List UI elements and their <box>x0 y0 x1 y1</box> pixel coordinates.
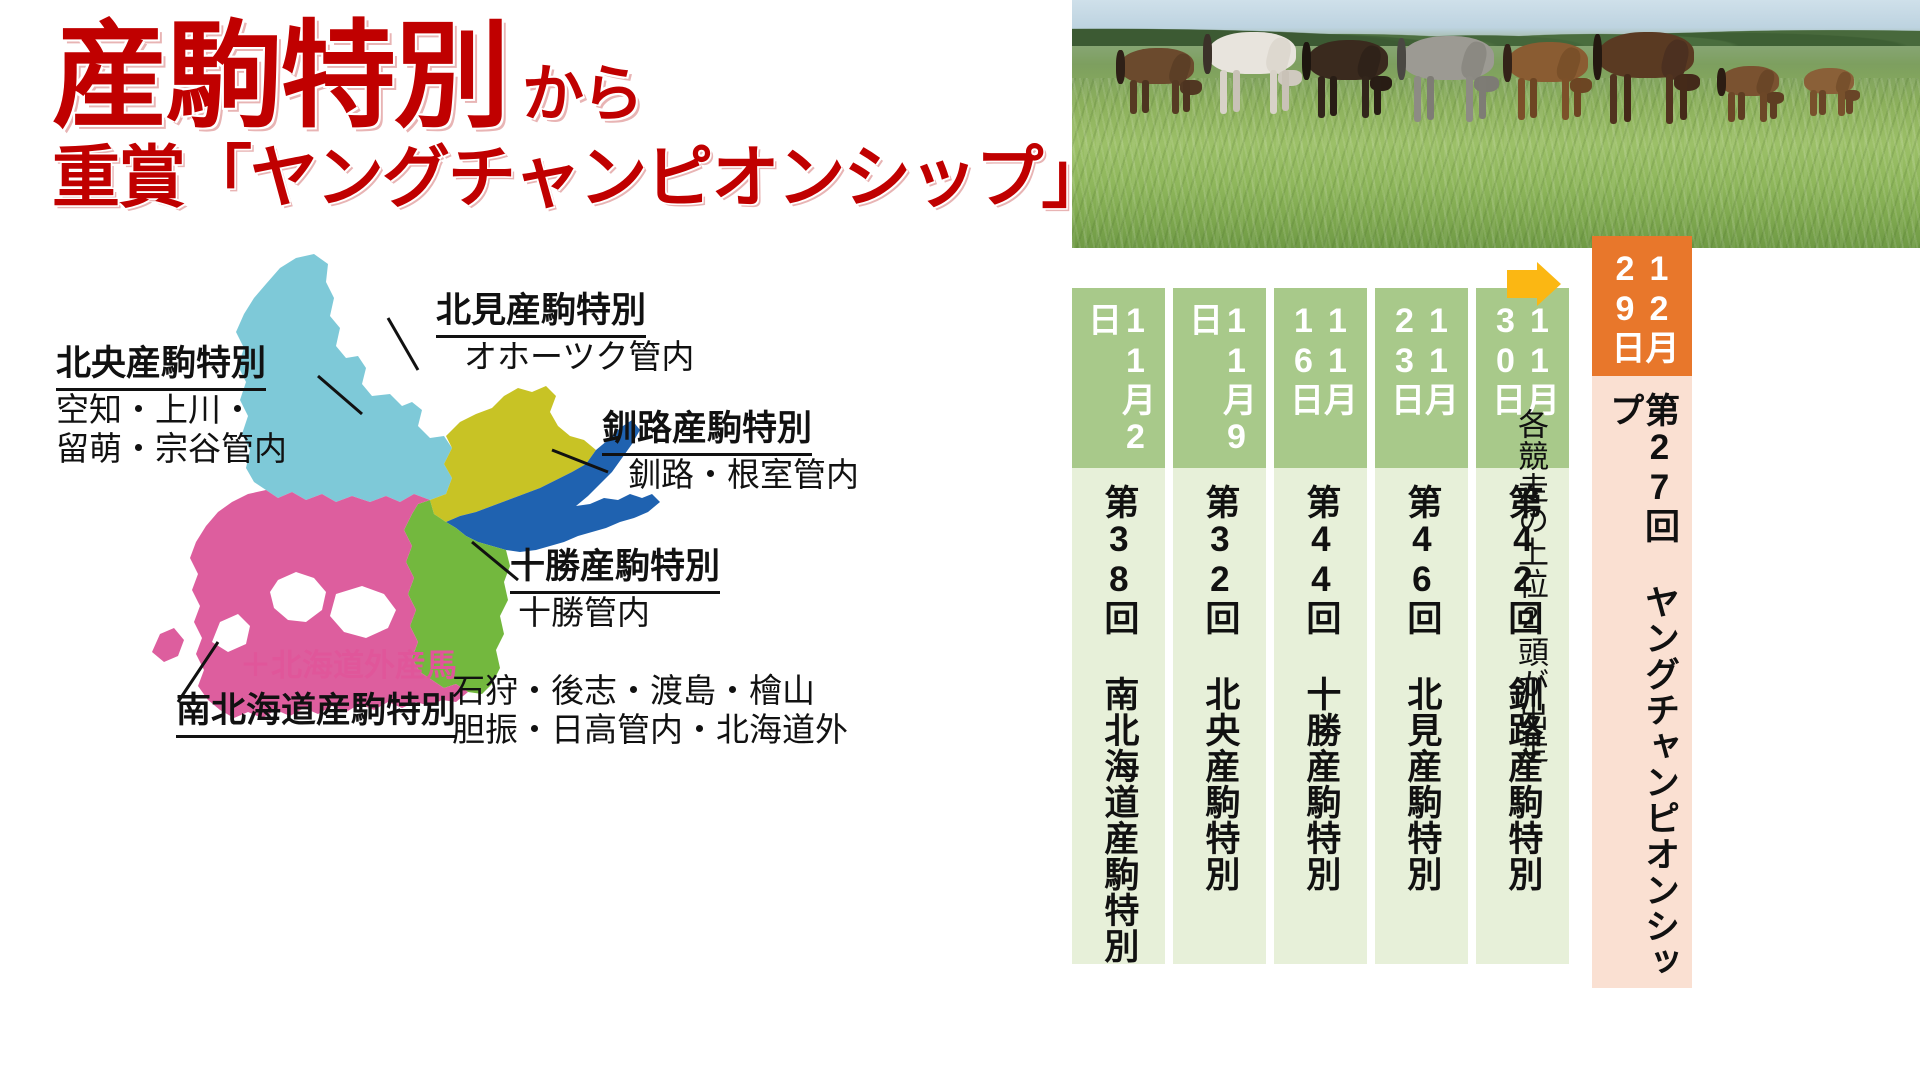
final-race-name-text: 第27回 ヤングチャンピオンシップ <box>1607 392 1677 988</box>
map-label-tokachi-sub-1: 十勝管内 <box>518 594 720 633</box>
race-column[interactable]: 11月23日 第46回 北見産駒特別 <box>1375 288 1468 964</box>
race-date-header: 11月2日 <box>1072 288 1165 468</box>
map-label-kushiro-title: 釧路産駒特別 <box>602 400 812 456</box>
qualification-note-text: 各競走の上位2頭が出走 <box>1515 408 1546 764</box>
horse-silhouette <box>1800 58 1862 126</box>
grazing-horses-pasture-photo <box>1072 0 1920 248</box>
infographic-root: 産駒特別 から 重賞「ヤングチャンピオンシップ」への道 <box>0 0 1920 1080</box>
map-label-kitami-sub-1: オホーツク管内 <box>464 338 694 377</box>
race-name-body: 第32回 北央産駒特別 <box>1173 468 1266 964</box>
map-label-minamihokkaido-title: 南北海道産駒特別 <box>176 682 456 738</box>
horse-silhouette <box>1200 18 1304 122</box>
map-label-kitami-rest: 産駒特別 <box>506 291 646 330</box>
map-label-hokuou: 北央産駒特別 空知・上川・ 留萌・宗谷管内 <box>56 335 287 469</box>
race-name-text: 第32回 北央産駒特別 <box>1202 484 1238 892</box>
final-race-name-body: 第27回 ヤングチャンピオンシップ <box>1592 376 1692 988</box>
right-arrow-icon <box>1503 262 1565 350</box>
map-label-tokachi-rest: 産駒特別 <box>580 547 720 586</box>
race-column[interactable]: 11月9日 第32回 北央産駒特別 <box>1173 288 1266 964</box>
race-name-body: 第44回 十勝産駒特別 <box>1274 468 1367 964</box>
race-column[interactable]: 11月2日 第38回 南北海道産駒特別 <box>1072 288 1165 964</box>
map-label-tokachi: 十勝産駒特別 十勝管内 <box>510 538 720 633</box>
map-label-kushiro-sub-1: 釧路・根室管内 <box>628 456 859 495</box>
map-label-kushiro-rest: 産駒特別 <box>672 409 812 448</box>
race-name-body: 第46回 北見産駒特別 <box>1375 468 1468 964</box>
race-name-text: 第38回 南北海道産駒特別 <box>1101 484 1137 964</box>
map-label-kitami-bold: 北見 <box>436 291 506 330</box>
race-date-header: 11月16日 <box>1274 288 1367 468</box>
qualification-arrow-column: 各競走の上位2頭が出走 <box>1493 288 1589 1048</box>
map-label-minamihokkaido-sub-1: 石狩・後志・渡島・檜山 <box>452 672 848 711</box>
race-date-text: 11月9日 <box>1186 302 1254 468</box>
race-schedule-panel: 11月2日 第38回 南北海道産駒特別 11月9日 第32回 北央産駒特別 11… <box>1072 288 1910 1048</box>
horse-silhouette <box>1716 54 1788 130</box>
final-race-column[interactable]: 12月29日 第27回 ヤングチャンピオンシップ <box>1592 236 1692 988</box>
leader-line-kitami <box>388 318 418 370</box>
horse-silhouette <box>1114 32 1200 116</box>
map-label-hokuou-sub-2: 留萌・宗谷管内 <box>56 430 287 469</box>
race-name-text: 第44回 十勝産駒特別 <box>1303 484 1339 892</box>
horse-silhouette <box>1394 20 1504 128</box>
horse-silhouette <box>1590 14 1706 130</box>
map-label-minamihokkaido-bold: 南北海道 <box>176 691 316 730</box>
horse-silhouette <box>1502 26 1598 126</box>
qualification-note: 各競走の上位2頭が出走 <box>1515 408 1546 769</box>
race-column[interactable]: 11月16日 第44回 十勝産駒特別 <box>1274 288 1367 964</box>
map-note-outside-hokkaido-horses: ＋北海道外産馬 <box>240 640 457 685</box>
title-line-1: 産駒特別 から <box>52 18 1112 134</box>
map-label-hokuou-title: 北央産駒特別 <box>56 335 266 391</box>
race-date-header: 11月9日 <box>1173 288 1266 468</box>
map-label-kushiro-bold: 釧路 <box>602 409 672 448</box>
map-label-tokachi-bold: 十勝 <box>510 547 580 586</box>
race-date-header: 11月23日 <box>1375 288 1468 468</box>
race-date-text: 11月23日 <box>1388 302 1456 468</box>
map-label-minamihokkaido: 南北海道産駒特別 <box>176 682 456 738</box>
map-label-tokachi-title: 十勝産駒特別 <box>510 538 720 594</box>
map-label-kitami: 北見産駒特別 オホーツク管内 <box>436 282 694 377</box>
race-date-text: 11月16日 <box>1287 302 1355 468</box>
title-line-2: 重賞「ヤングチャンピオンシップ」への道 <box>52 144 1112 212</box>
map-label-kitami-title: 北見産駒特別 <box>436 282 646 338</box>
page-title: 産駒特別 から 重賞「ヤングチャンピオンシップ」への道 <box>52 18 1112 212</box>
horse-silhouette <box>1300 24 1398 124</box>
title-suffix-text: から <box>522 64 642 126</box>
map-label-minamihokkaido-sub-2: 胆振・日高管内・北海道外 <box>452 711 848 750</box>
race-date-text: 11月2日 <box>1085 302 1153 468</box>
title-main-text: 産駒特別 <box>52 18 508 134</box>
map-label-hokuou-sub-1: 空知・上川・ <box>56 391 287 430</box>
race-name-text: 第46回 北見産駒特別 <box>1404 484 1440 892</box>
hokkaido-region-map: 北央産駒特別 空知・上川・ 留萌・宗谷管内 北見産駒特別 オホーツク管内 釧路産… <box>100 250 1080 950</box>
final-race-date-text: 12月29日 <box>1608 250 1676 376</box>
map-label-hokuou-rest: 産駒特別 <box>126 344 266 383</box>
final-race-date-header: 12月29日 <box>1592 236 1692 376</box>
race-name-body: 第38回 南北海道産駒特別 <box>1072 468 1165 964</box>
map-label-hokuou-bold: 北央 <box>56 344 126 383</box>
map-label-minamihokkaido-rest: 産駒特別 <box>316 691 456 730</box>
map-label-minamihokkaido-subgroup: 石狩・後志・渡島・檜山 胆振・日高管内・北海道外 <box>452 672 848 750</box>
map-label-kushiro: 釧路産駒特別 釧路・根室管内 <box>602 400 859 495</box>
